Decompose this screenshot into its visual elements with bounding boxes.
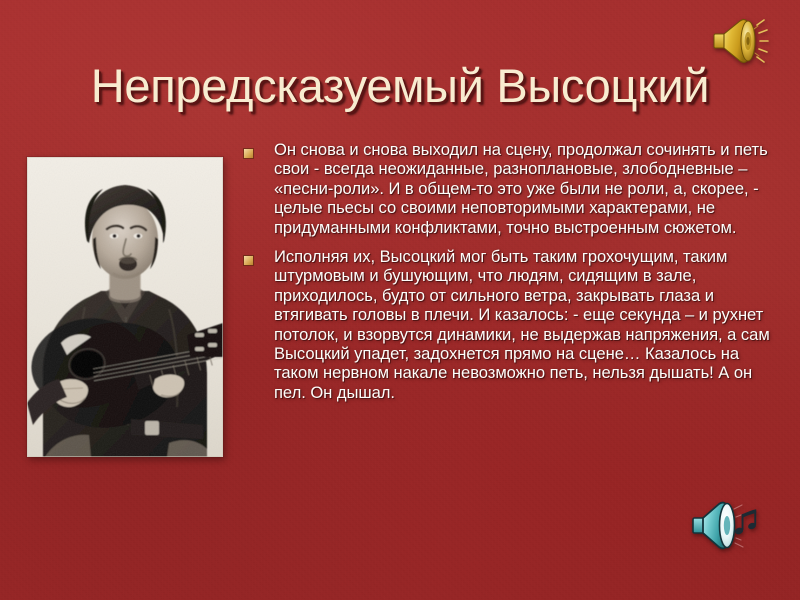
bullet-text: Исполняя их, Высоцкий мог быть таким гро… [274, 247, 788, 402]
square-bullet-icon [244, 149, 253, 158]
speaker-music-icon-glyph [690, 496, 762, 556]
slide-body: Он снова и снова выходил на сцену, продо… [240, 140, 788, 412]
page-title: Непредсказуемый Высоцкий [0, 62, 800, 111]
speaker-icon-glyph [710, 16, 772, 66]
bullet-text: Он снова и снова выходил на сцену, продо… [274, 140, 788, 237]
speaker-icon[interactable] [710, 16, 772, 66]
vysotsky-photo [27, 157, 223, 457]
speaker-music-icon[interactable] [690, 496, 762, 556]
square-bullet-icon [244, 256, 253, 265]
list-item: Он снова и снова выходил на сцену, продо… [240, 140, 788, 237]
list-item: Исполняя их, Высоцкий мог быть таким гро… [240, 247, 788, 402]
vysotsky-photo-image [27, 157, 223, 457]
presentation-slide: Непредсказуемый Высоцкий [0, 0, 800, 600]
